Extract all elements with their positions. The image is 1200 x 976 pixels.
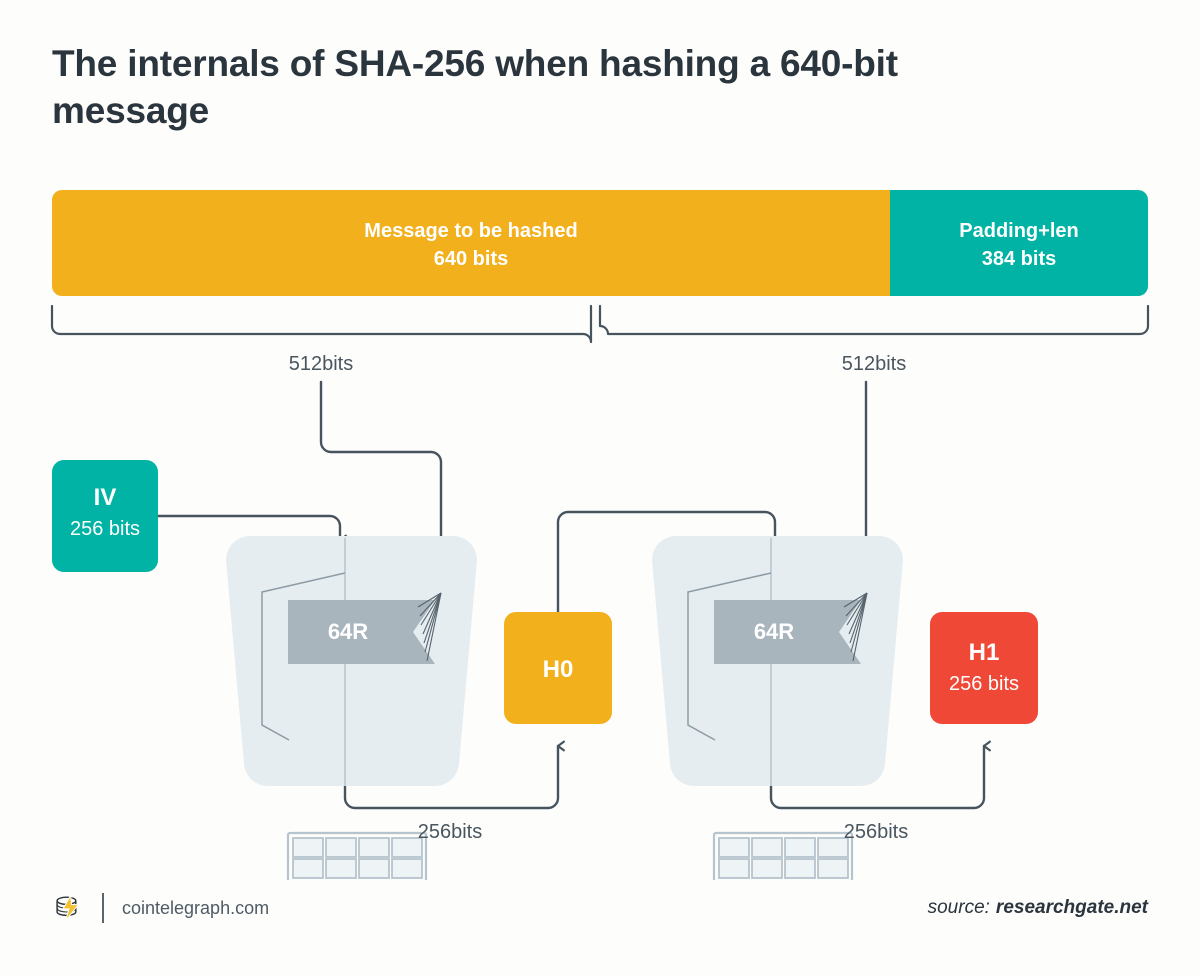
footer-source-value: researchgate.net bbox=[996, 897, 1148, 919]
compression-1-register-grid bbox=[288, 833, 426, 880]
compression-1-rounds-label: 64R bbox=[328, 619, 368, 644]
bracket-block-2 bbox=[600, 306, 1148, 334]
node-iv-title: IV bbox=[94, 484, 117, 511]
feedback-1-label: 256bits bbox=[418, 821, 483, 843]
compression-2-register-grid bbox=[714, 833, 852, 880]
footer-brand: cointelegraph.com bbox=[52, 885, 269, 931]
title-block: The internals of SHA-256 when hashing a … bbox=[52, 40, 1042, 135]
node-h1-title: H1 bbox=[969, 639, 1000, 666]
bracket-block-1 bbox=[52, 306, 591, 342]
infographic-canvas: The internals of SHA-256 when hashing a … bbox=[0, 0, 1200, 976]
node-h0-title: H0 bbox=[543, 656, 574, 683]
cointelegraph-logo-icon bbox=[52, 891, 86, 925]
message-bar-segment-padding bbox=[890, 190, 1148, 296]
block-brackets: 512bits 512bits bbox=[52, 306, 1148, 375]
footer-source-label: source: bbox=[928, 897, 990, 919]
bracket-block-1-label: 512bits bbox=[289, 353, 354, 375]
message-bar-padding-size: 384 bits bbox=[982, 248, 1056, 270]
node-h1[interactable]: H1 256 bits bbox=[930, 612, 1038, 724]
node-h1-box[interactable] bbox=[930, 612, 1038, 724]
node-h0[interactable]: H0 bbox=[504, 612, 612, 724]
node-iv[interactable]: IV 256 bits bbox=[52, 460, 158, 572]
message-bar-segment-message bbox=[52, 190, 890, 296]
footer: cointelegraph.com source: researchgate.n… bbox=[52, 885, 1148, 931]
node-iv-box[interactable] bbox=[52, 460, 158, 572]
page-title: The internals of SHA-256 when hashing a … bbox=[52, 40, 1042, 135]
message-bar-message-size: 640 bits bbox=[434, 248, 508, 270]
footer-divider bbox=[102, 893, 104, 923]
bracket-block-2-label: 512bits bbox=[842, 353, 907, 375]
sha256-diagram: Message to be hashed 640 bits Padding+le… bbox=[0, 160, 1200, 880]
feedback-2-label: 256bits bbox=[844, 821, 909, 843]
node-iv-subtitle: 256 bits bbox=[70, 518, 140, 540]
footer-site-label: cointelegraph.com bbox=[122, 898, 269, 919]
message-bar-message-label: Message to be hashed bbox=[364, 220, 577, 242]
message-bar: Message to be hashed 640 bits Padding+le… bbox=[52, 190, 1148, 296]
compression-2-rounds-label: 64R bbox=[754, 619, 794, 644]
node-h1-subtitle: 256 bits bbox=[949, 673, 1019, 695]
message-bar-padding-label: Padding+len bbox=[959, 220, 1078, 242]
footer-source: source: researchgate.net bbox=[928, 885, 1148, 931]
